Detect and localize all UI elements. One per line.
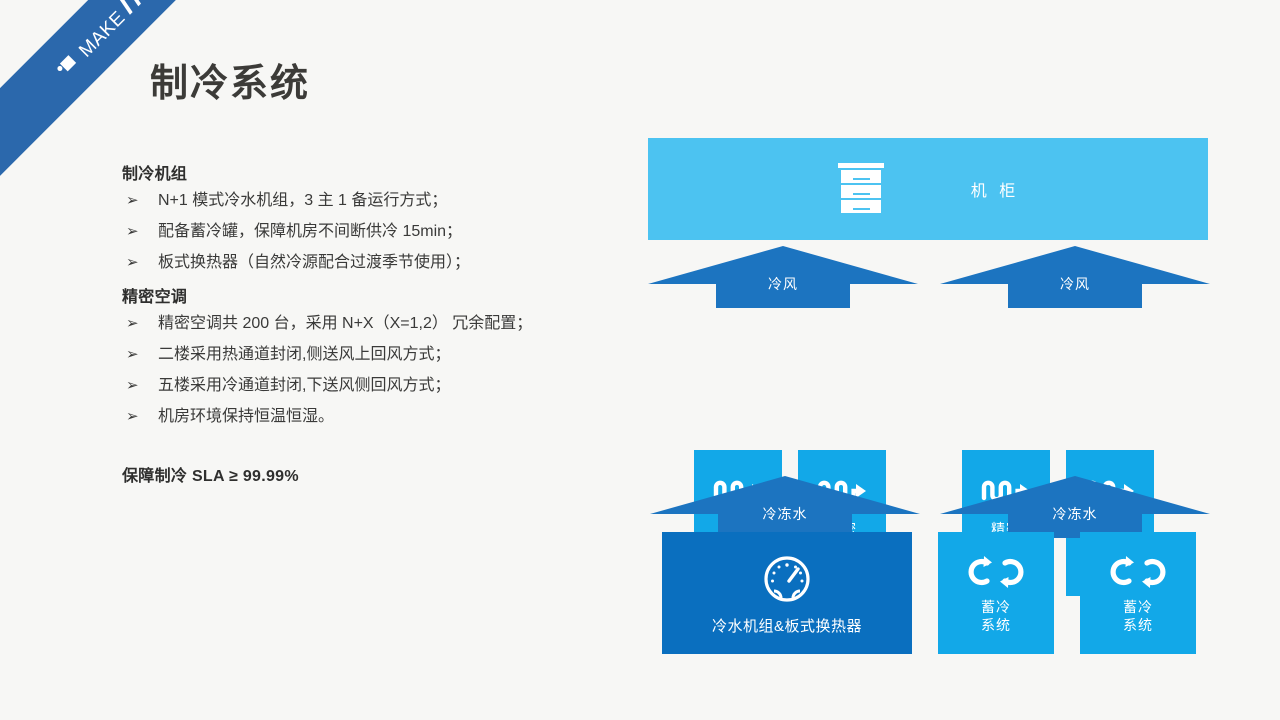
list-item-text: 二楼采用热通道封闭,侧送风上回风方式； [158, 344, 450, 366]
list-item: ➢ 五楼采用冷通道封闭,下送风侧回风方式； [122, 375, 622, 397]
list-item-text: 机房环境保持恒温恒湿。 [158, 406, 334, 428]
diagram-node-cold-storage: 蓄冷系统 [938, 532, 1054, 654]
list-item: ➢ 二楼采用热通道封闭,侧送风上回风方式； [122, 344, 622, 366]
bullet-arrow-icon: ➢ [122, 406, 158, 428]
server-rack-icon [837, 163, 885, 215]
chilled-water-arrow-row: 冷冻水 冷冻水 [648, 476, 1210, 538]
cold-storage-label: 蓄冷系统 [1123, 598, 1153, 634]
ribbon-word-it: IT [110, 0, 153, 22]
bullet-arrow-icon: ➢ [122, 344, 158, 366]
cabinet-label: 机 柜 [971, 177, 1019, 201]
recycle-loop-icon [965, 552, 1027, 592]
brand-mark-icon [55, 52, 80, 77]
list-item-text: 五楼采用冷通道封闭,下送风侧回风方式； [158, 375, 450, 397]
arrow-up-cold-air-left: 冷风 [648, 246, 918, 308]
cold-storage-label: 蓄冷系统 [981, 598, 1011, 634]
list-item: ➢ 机房环境保持恒温恒湿。 [122, 406, 622, 428]
section-heading-precision-ac: 精密空调 [122, 283, 622, 307]
diagram-node-cold-storage: 蓄冷系统 [1080, 532, 1196, 654]
arrow-up-cold-air-right: 冷风 [940, 246, 1210, 308]
recycle-loop-icon [1107, 552, 1169, 592]
bullet-list-precision-ac: ➢ 精密空调共 200 台，采用 N+X（X=1,2） 冗余配置； ➢ 二楼采用… [122, 313, 622, 428]
bullet-arrow-icon: ➢ [122, 252, 158, 274]
diagram-node-chiller-plant: 冷水机组&板式换热器 [662, 532, 912, 654]
section-heading-chiller-unit: 制冷机组 [122, 160, 622, 184]
bullet-arrow-icon: ➢ [122, 313, 158, 335]
bullet-arrow-icon: ➢ [122, 190, 158, 212]
ribbon-word-make: MAKE [75, 7, 130, 62]
arrow-up-chilled-water-right: 冷冻水 [940, 476, 1210, 538]
arrow-label: 冷冻水 [650, 504, 920, 524]
cold-air-arrow-row: 冷风 冷风 [648, 246, 1210, 308]
list-item: ➢ N+1 模式冷水机组，3 主 1 备运行方式； [122, 190, 622, 212]
plant-equipment-row: 冷水机组&板式换热器 蓄冷系统 蓄冷系统 [648, 532, 1210, 656]
list-item-text: 精密空调共 200 台，采用 N+X（X=1,2） 冗余配置； [158, 313, 532, 335]
list-item-text: 板式换热器（自然冷源配合过渡季节使用）； [158, 252, 470, 274]
page-title: 制冷系统 [150, 52, 310, 107]
list-item-text: N+1 模式冷水机组，3 主 1 备运行方式； [158, 190, 447, 212]
bullet-list-chiller-unit: ➢ N+1 模式冷水机组，3 主 1 备运行方式； ➢ 配备蓄冷罐，保障机房不间… [122, 190, 622, 274]
gauge-icon [759, 551, 815, 607]
bullet-arrow-icon: ➢ [122, 221, 158, 243]
cooling-system-diagram: 机 柜 冷风 冷风 精密空调 精密空调 [648, 138, 1210, 656]
arrow-label: 冷风 [648, 274, 918, 294]
arrow-label: 冷冻水 [940, 504, 1210, 524]
list-item: ➢ 配备蓄冷罐，保障机房不间断供冷 15min； [122, 221, 622, 243]
list-item: ➢ 精密空调共 200 台，采用 N+X（X=1,2） 冗余配置； [122, 313, 622, 335]
bullet-arrow-icon: ➢ [122, 375, 158, 397]
arrow-label: 冷风 [940, 274, 1210, 294]
sla-statement: 保障制冷 SLA ≥ 99.99% [122, 462, 622, 486]
diagram-node-cabinet: 机 柜 [648, 138, 1208, 240]
list-item-text: 配备蓄冷罐，保障机房不间断供冷 15min； [158, 221, 462, 243]
content-text-column: 制冷机组 ➢ N+1 模式冷水机组，3 主 1 备运行方式； ➢ 配备蓄冷罐，保… [122, 160, 622, 486]
list-item: ➢ 板式换热器（自然冷源配合过渡季节使用）； [122, 252, 622, 274]
chiller-label: 冷水机组&板式换热器 [712, 615, 862, 636]
arrow-up-chilled-water-left: 冷冻水 [650, 476, 920, 538]
